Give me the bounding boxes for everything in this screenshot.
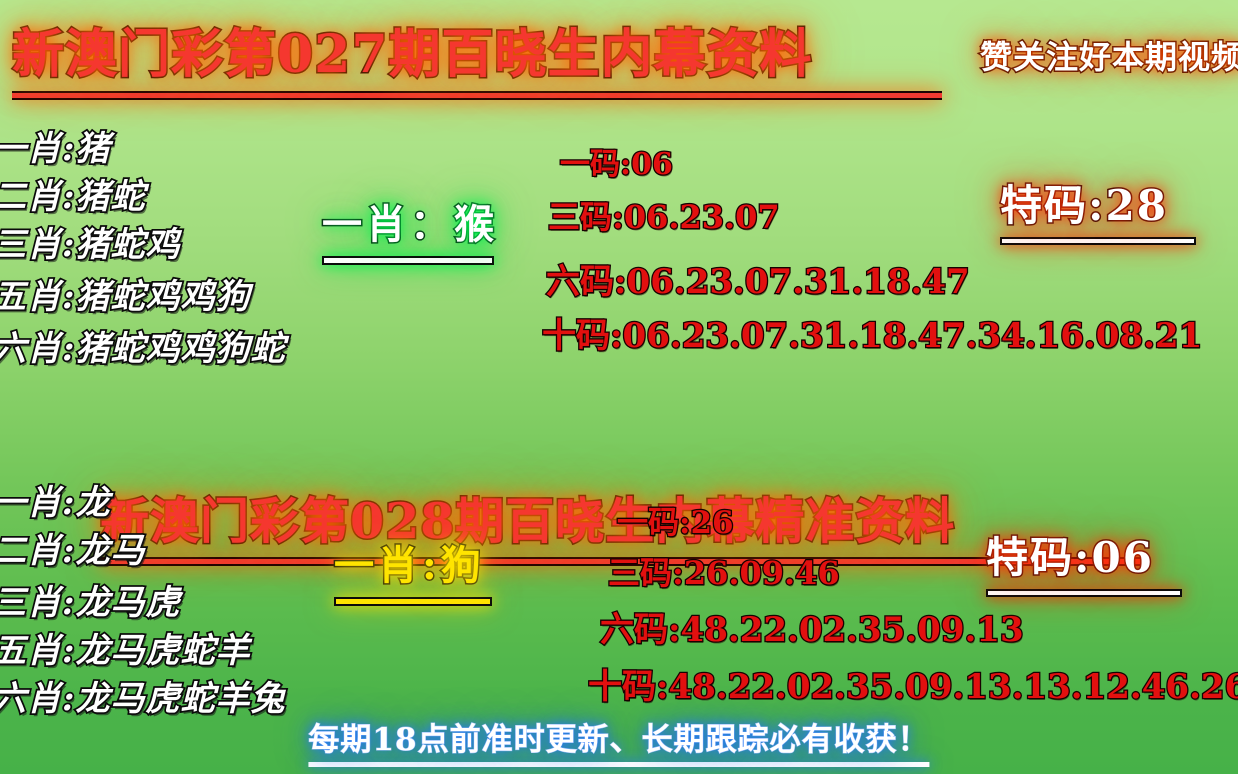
section-1-special-code-underline [1000, 237, 1196, 245]
code-row-six: 六码:48.22.02.35.09.13 [600, 602, 1024, 651]
zodiac-row: 五肖:猪蛇鸡鸡狗 [0, 280, 286, 314]
zodiac-row: 一肖:猪 [0, 132, 286, 166]
code-row-three: 三码:26.09.46 [608, 548, 840, 594]
code-row-ten: 十码:48.22.02.35.09.13.13.12.46.26.03 [588, 659, 1238, 708]
section-2-one-zodiac-badge: 一肖:狗 [334, 533, 492, 606]
section-1-title-banner: 新澳门彩第027期百晓生内幕资料 [12, 12, 942, 100]
code-row-six: 六码:06.23.07.31.18.47 [546, 254, 970, 303]
section-2-one-zodiac-underline [334, 597, 492, 606]
section-1-title-underline [12, 91, 942, 100]
footer-text: 每期18点前准时更新、长期跟踪必有收获！ [308, 714, 929, 759]
section-1-special-code-text: 特码:28 [1000, 172, 1196, 233]
code-row-three: 三码:06.23.07 [548, 192, 780, 238]
zodiac-row: 六肖:猪蛇鸡鸡狗蛇 [0, 332, 286, 366]
zodiac-row: 五肖:龙马虎蛇羊 [0, 634, 286, 668]
section-1-one-zodiac-badge: 一肖：猴 [322, 192, 498, 265]
section-2-special-code-text: 特码:06 [986, 524, 1182, 585]
section-1-one-zodiac-underline [322, 256, 494, 265]
poster-canvas: 新澳门彩第027期百晓生内幕资料 赞关注好本期视频 一肖:猪 二肖:猪蛇 三肖:… [0, 0, 1238, 774]
code-row-ten: 十码:06.23.07.31.18.47.34.16.08.21 [542, 308, 1202, 357]
zodiac-row: 三肖:猪蛇鸡 [0, 228, 286, 262]
section-2-one-zodiac-text: 一肖:狗 [334, 533, 492, 591]
zodiac-row: 二肖:猪蛇 [0, 180, 286, 214]
code-row-one: 一码:26 [617, 497, 734, 542]
footer-banner: 每期18点前准时更新、长期跟踪必有收获！ [308, 714, 929, 767]
section-1-special-code-badge: 特码:28 [1000, 172, 1196, 245]
promo-text: 赞关注好本期视频 [980, 32, 1238, 78]
section-1-title-text: 新澳门彩第027期百晓生内幕资料 [12, 12, 942, 87]
section-2-special-code-badge: 特码:06 [986, 524, 1182, 597]
zodiac-row: 六肖:龙马虎蛇羊兔 [0, 682, 286, 716]
zodiac-row: 一肖:龙 [0, 486, 286, 520]
section-1-one-zodiac-text: 一肖：猴 [322, 192, 498, 250]
code-row-one: 一码:06 [560, 139, 673, 183]
zodiac-row: 三肖:龙马虎 [0, 586, 286, 620]
section-2-special-code-underline [986, 589, 1182, 597]
section-1-zodiac-list: 一肖:猪 二肖:猪蛇 三肖:猪蛇鸡 五肖:猪蛇鸡鸡狗 六肖:猪蛇鸡鸡狗蛇 [0, 132, 286, 366]
zodiac-row: 二肖:龙马 [0, 534, 286, 568]
footer-underline [308, 762, 929, 767]
section-2-zodiac-list: 一肖:龙 二肖:龙马 三肖:龙马虎 五肖:龙马虎蛇羊 六肖:龙马虎蛇羊兔 [0, 486, 286, 716]
